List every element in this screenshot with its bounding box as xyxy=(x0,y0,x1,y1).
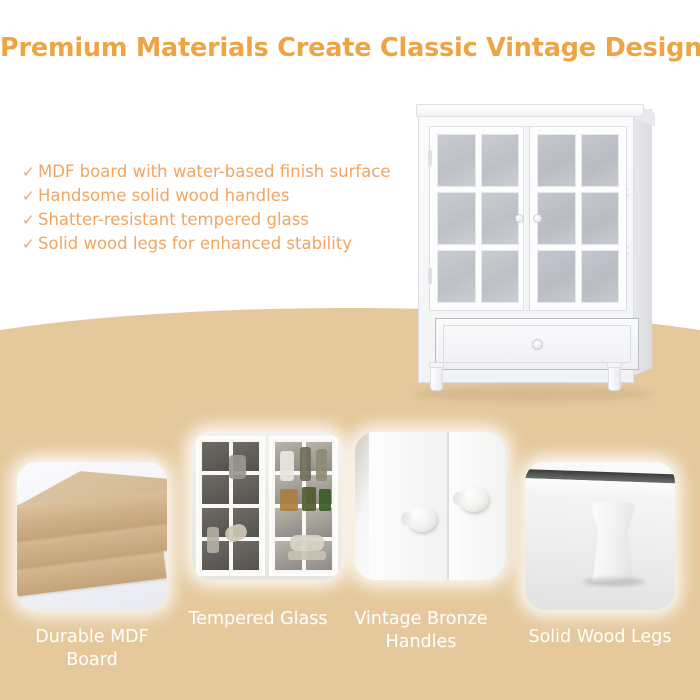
glass-door-right xyxy=(269,436,338,576)
glass-pane xyxy=(581,192,620,245)
shelf-item xyxy=(207,527,219,553)
glass-pane xyxy=(202,442,229,471)
glass-door-left xyxy=(196,436,265,576)
product-image-cabinet xyxy=(408,104,658,416)
glass-pane xyxy=(306,508,333,537)
glass-pane-grid xyxy=(437,134,519,303)
shelf-item xyxy=(290,535,324,551)
shelf-item xyxy=(288,551,326,560)
glass-pane xyxy=(481,192,520,245)
feature-list: ✓MDF board with water-based finish surfa… xyxy=(22,160,412,256)
check-icon: ✓ xyxy=(22,161,38,184)
cabinet-top xyxy=(416,104,644,117)
list-item-label: MDF board with water-based finish surfac… xyxy=(38,162,391,181)
cabinet-door-left[interactable] xyxy=(429,126,527,311)
glass-pane xyxy=(537,134,576,187)
list-item: ✓MDF board with water-based finish surfa… xyxy=(22,160,412,184)
glass-pane xyxy=(537,250,576,303)
list-item: ✓Shatter-resistant tempered glass xyxy=(22,208,412,232)
card-caption-bronze-handles: Vintage Bronze Handles xyxy=(337,608,505,654)
glass-pane xyxy=(233,475,260,504)
list-item-label: Solid wood legs for enhanced stability xyxy=(38,234,352,253)
card-caption-tempered-glass: Tempered Glass xyxy=(174,608,342,631)
feature-card-tempered-glass xyxy=(192,432,342,580)
glass-pane xyxy=(233,541,260,570)
card-caption-mdf-board: Durable MDF Board xyxy=(8,626,176,672)
cabinet-door-right[interactable] xyxy=(529,126,627,311)
check-icon: ✓ xyxy=(22,209,38,232)
list-item-label: Handsome solid wood handles xyxy=(38,186,289,205)
leg-shadow xyxy=(583,578,645,586)
hinge-icon xyxy=(428,268,432,284)
door-knob-right[interactable] xyxy=(533,214,542,223)
glass-pane xyxy=(437,192,476,245)
glass-pane xyxy=(437,250,476,303)
shelf-item xyxy=(229,455,246,479)
glass-pane xyxy=(275,508,302,537)
check-icon: ✓ xyxy=(22,185,38,208)
cabinet-door-panel xyxy=(369,432,449,580)
shelf-item xyxy=(300,447,311,481)
shelf-item xyxy=(280,451,294,481)
glass-pane xyxy=(581,134,620,187)
door-knob-left[interactable] xyxy=(515,214,524,223)
cabinet-leg-left xyxy=(430,365,443,391)
glass-pane-grid xyxy=(537,134,619,303)
list-item: ✓Handsome solid wood handles xyxy=(22,184,412,208)
shelf-item xyxy=(280,489,298,511)
cabinet-body xyxy=(418,115,634,383)
cabinet-leg-right xyxy=(608,365,621,391)
drawer-knob[interactable] xyxy=(532,339,543,350)
glass-pane xyxy=(481,134,520,187)
shelf-item xyxy=(316,449,327,481)
glass-pane xyxy=(481,250,520,303)
door-knob-icon xyxy=(407,506,437,532)
feature-card-wood-legs xyxy=(525,462,675,610)
feature-card-bronze-handles xyxy=(355,432,505,580)
feature-card-mdf-board xyxy=(17,462,167,610)
page-title: Premium Materials Create Classic Vintage… xyxy=(0,33,700,63)
list-item-label: Shatter-resistant tempered glass xyxy=(38,210,309,229)
card-caption-wood-legs: Solid Wood Legs xyxy=(516,626,684,649)
glass-pane xyxy=(537,192,576,245)
check-icon: ✓ xyxy=(22,233,38,256)
door-knob-icon xyxy=(459,486,489,512)
glass-pane xyxy=(202,475,229,504)
promo-banner: Premium Materials Create Classic Vintage… xyxy=(0,0,700,700)
shelf-item xyxy=(319,489,331,511)
glass-pane xyxy=(581,250,620,303)
hinge-icon xyxy=(428,150,432,166)
shelf-item xyxy=(302,487,316,511)
glass-pane xyxy=(437,134,476,187)
list-item: ✓Solid wood legs for enhanced stability xyxy=(22,232,412,256)
